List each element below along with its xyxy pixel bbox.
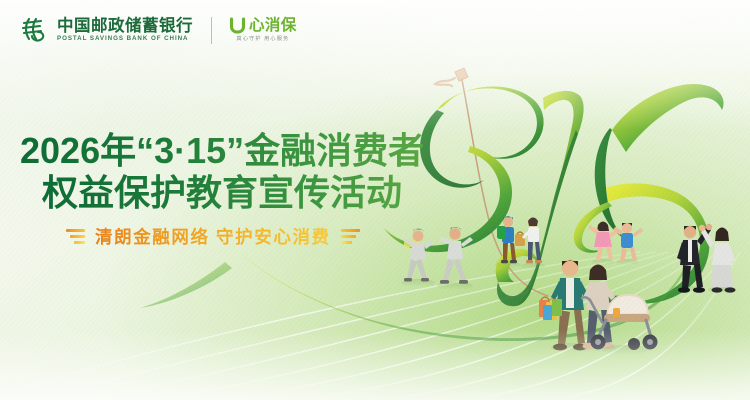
slogan-ornament-right — [341, 229, 360, 244]
slogan-ornament-left — [66, 229, 85, 244]
kite-child-girl — [588, 222, 618, 266]
partner-name-cn: 心消保 — [249, 18, 297, 34]
kite-child-boy — [613, 223, 643, 265]
businessman-highfive — [676, 224, 712, 294]
bottom-fade — [0, 330, 750, 400]
partner-logo-main: 心消保 — [229, 17, 297, 34]
radiating-path-lines — [0, 252, 740, 400]
partner-tagline: 真心守护 用心服务 — [236, 37, 289, 42]
u-heart-icon — [229, 17, 246, 34]
headline: 2026年“3·15”金融消费者 权益保护教育宣传活动 — [20, 130, 424, 214]
taichi-elder-2 — [437, 227, 473, 290]
customer-receiving — [521, 217, 545, 269]
psbc-mark-icon — [18, 16, 48, 44]
businesswoman-highfive — [699, 225, 736, 294]
bank-name-cn: 中国邮政储蓄银行 — [57, 18, 193, 35]
logo-bar: 中国邮政储蓄银行 POSTAL SAVINGS BANK OF CHINA 心消… — [18, 16, 297, 44]
family-mother — [580, 264, 616, 352]
delivery-courier — [495, 216, 525, 268]
taichi-elder-1 — [401, 228, 435, 287]
baby-stroller — [582, 294, 658, 355]
ribbon-digit-1 — [496, 91, 584, 306]
shopping-bags — [539, 297, 562, 320]
partner-logo: 心消保 真心守护 用心服务 — [229, 17, 297, 42]
headline-line-1: 2026年“3·15”金融消费者 — [20, 130, 424, 172]
family-father — [539, 260, 590, 353]
slogan-row: 清朗金融网络 守护安心消费 — [66, 224, 360, 249]
headline-line-2: 权益保护教育宣传活动 — [42, 172, 424, 214]
bank-name-en: POSTAL SAVINGS BANK OF CHINA — [57, 36, 193, 42]
kite-icon — [435, 68, 548, 296]
ribbon-digit-5 — [574, 84, 724, 304]
bank-logo-text: 中国邮政储蓄银行 POSTAL SAVINGS BANK OF CHINA — [57, 18, 193, 43]
slogan-text: 清朗金融网络 守护安心消费 — [95, 224, 331, 249]
ribbon-sweep-tail — [140, 240, 694, 341]
logo-divider — [211, 17, 212, 44]
bank-logo: 中国邮政储蓄银行 POSTAL SAVINGS BANK OF CHINA — [18, 16, 193, 44]
promotional-banner: 中国邮政储蓄银行 POSTAL SAVINGS BANK OF CHINA 心消… — [0, 0, 750, 400]
